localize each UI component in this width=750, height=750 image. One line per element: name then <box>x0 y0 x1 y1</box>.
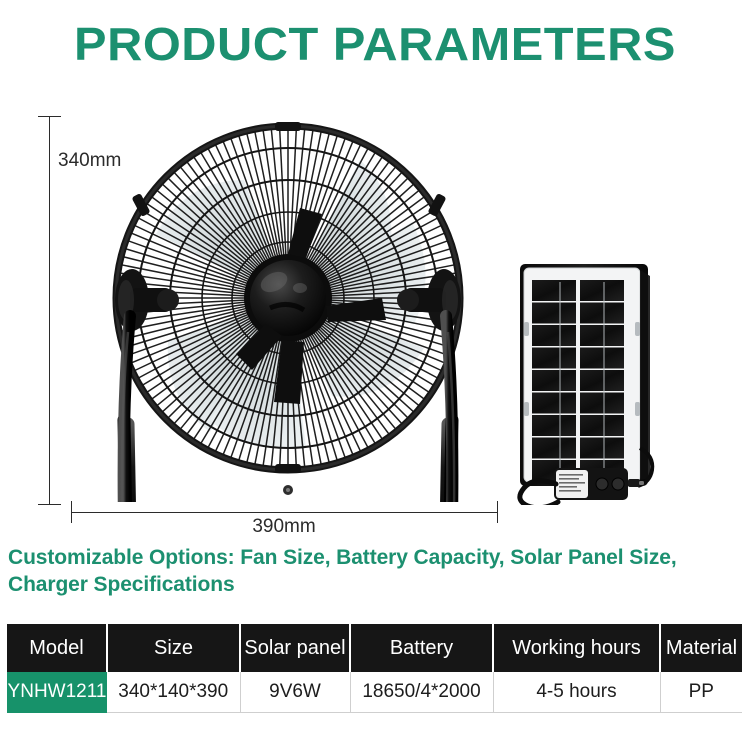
column-header-solar-panel: Solar panel <box>240 624 350 672</box>
width-dimension-line <box>71 512 498 513</box>
height-dimension-cap-top <box>38 116 61 117</box>
height-dimension-cap-bottom <box>38 504 61 505</box>
table-row: YNHW1211 340*140*390 9V6W 18650/4*2000 4… <box>7 672 742 713</box>
height-dimension-line <box>49 116 50 505</box>
height-dimension-label: 340mm <box>58 150 121 172</box>
cell-battery: 18650/4*2000 <box>350 672 493 713</box>
page-title: PRODUCT PARAMETERS <box>0 18 750 70</box>
floor-fan-image <box>60 102 520 502</box>
cell-model: YNHW1211 <box>7 672 107 713</box>
width-dimension-label: 390mm <box>0 516 568 538</box>
column-header-size: Size <box>107 624 240 672</box>
cell-working-hours: 4-5 hours <box>493 672 660 713</box>
column-header-model: Model <box>7 624 107 672</box>
cell-size: 340*140*390 <box>107 672 240 713</box>
column-header-working-hours: Working hours <box>493 624 660 672</box>
column-header-material: Material <box>660 624 742 672</box>
table-header-row: Model Size Solar panel Battery Working h… <box>7 624 742 672</box>
fan-hub <box>244 254 332 342</box>
cell-material: PP <box>660 672 742 713</box>
cell-solar-panel: 9V6W <box>240 672 350 713</box>
column-header-battery: Battery <box>350 624 493 672</box>
solar-panel-image <box>512 260 692 505</box>
customizable-options-text: Customizable Options: Fan Size, Battery … <box>8 544 744 598</box>
specification-table: Model Size Solar panel Battery Working h… <box>7 624 742 713</box>
